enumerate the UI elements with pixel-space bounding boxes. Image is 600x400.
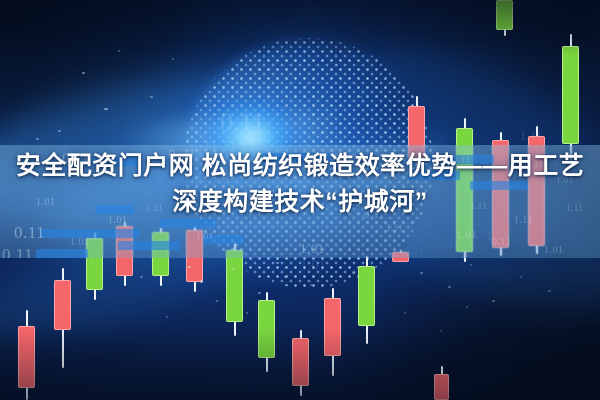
banner-image: 0.110.211.111.111.010.111.11 0.111.010.1… [0,0,600,400]
spark-particle [58,130,61,132]
spark-particle [276,262,279,264]
spark-particle [232,268,234,270]
headline: 安全配资门户网 松尚纺织锻造效率优势——用工艺 深度构建技术“护城河” [0,148,600,220]
band-number: 1.01 [70,237,90,248]
band-bar [36,249,88,258]
band-number: 1.01 [544,245,564,256]
spark-particle [360,96,362,98]
spark-particle [310,284,312,286]
band-bar [160,219,216,228]
spark-particle [440,330,442,332]
band-number: 0.11 [492,237,511,248]
headline-line-1: 安全配资门户网 松尚纺织锻造效率优势——用工艺 [0,148,600,184]
spark-particle [36,138,39,140]
headline-line-2: 深度构建技术“护城河” [0,184,600,220]
band-number: 0.11 [2,245,33,258]
spark-particle [448,286,451,288]
band-number: 1.01 [196,231,214,241]
spark-particle [92,262,94,264]
spark-particle [466,306,468,308]
spark-particle [336,64,338,66]
spark-particle [188,266,191,268]
spark-particle [420,272,423,274]
spark-particle [548,290,551,292]
spark-particle [258,292,261,294]
spark-particle [82,72,85,74]
band-number: 1.11 [386,223,403,233]
spark-particle [166,316,168,318]
spark-particle [284,276,286,278]
spark-particle [118,50,120,52]
spark-particle [520,276,522,278]
band-number: 1.01 [456,229,477,241]
spark-particle [404,312,406,314]
band-number: 0.11 [14,223,45,243]
spark-particle [246,312,248,314]
band-bar [118,241,180,250]
spark-particle [140,276,143,278]
spark-particle [172,58,174,60]
spark-particle [470,264,472,266]
spark-particle [104,108,108,110]
spark-particle [150,96,153,98]
band-number: 1.01 [300,241,325,257]
spark-particle [200,280,203,283]
spark-particle [492,300,495,302]
band-bar [40,229,140,238]
spark-particle [216,300,218,302]
spark-particle [352,272,355,274]
